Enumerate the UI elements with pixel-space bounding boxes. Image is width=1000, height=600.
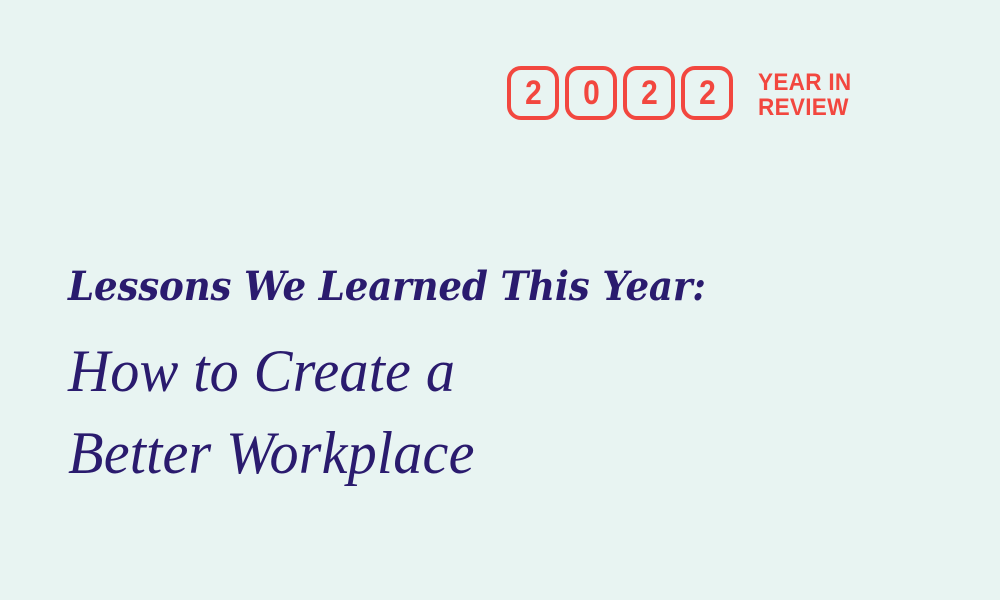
year-digit-box-3: 2 xyxy=(623,66,675,120)
year-in-review-label: YEAR IN REVIEW xyxy=(758,70,851,120)
year-in-review-label-line2: REVIEW xyxy=(758,95,851,120)
promo-banner: 2 0 2 2 YEAR IN REVIEW Lessons We Learne… xyxy=(0,0,1000,600)
year-digit-4: 2 xyxy=(699,76,715,110)
year-digit-2: 0 xyxy=(583,76,599,110)
headline-subhead-line2: Better Workplace xyxy=(68,412,902,494)
year-digit-box-1: 2 xyxy=(507,66,559,120)
year-digit-box-4: 2 xyxy=(681,66,733,120)
year-digit-1: 2 xyxy=(525,76,541,110)
headline-eyebrow: Lessons We Learned This Year: xyxy=(68,262,868,312)
headline-subhead: How to Create a Better Workplace xyxy=(68,330,902,494)
year-digit-3: 2 xyxy=(641,76,657,110)
year-digit-box-2: 0 xyxy=(565,66,617,120)
year-in-review-badge: 2 0 2 2 YEAR IN REVIEW xyxy=(507,66,857,120)
year-digit-boxes: 2 0 2 2 xyxy=(507,66,733,120)
headline-subhead-line1: How to Create a xyxy=(68,330,902,412)
year-in-review-label-line1: YEAR IN xyxy=(758,70,851,95)
headline-block: Lessons We Learned This Year: How to Cre… xyxy=(68,262,928,494)
